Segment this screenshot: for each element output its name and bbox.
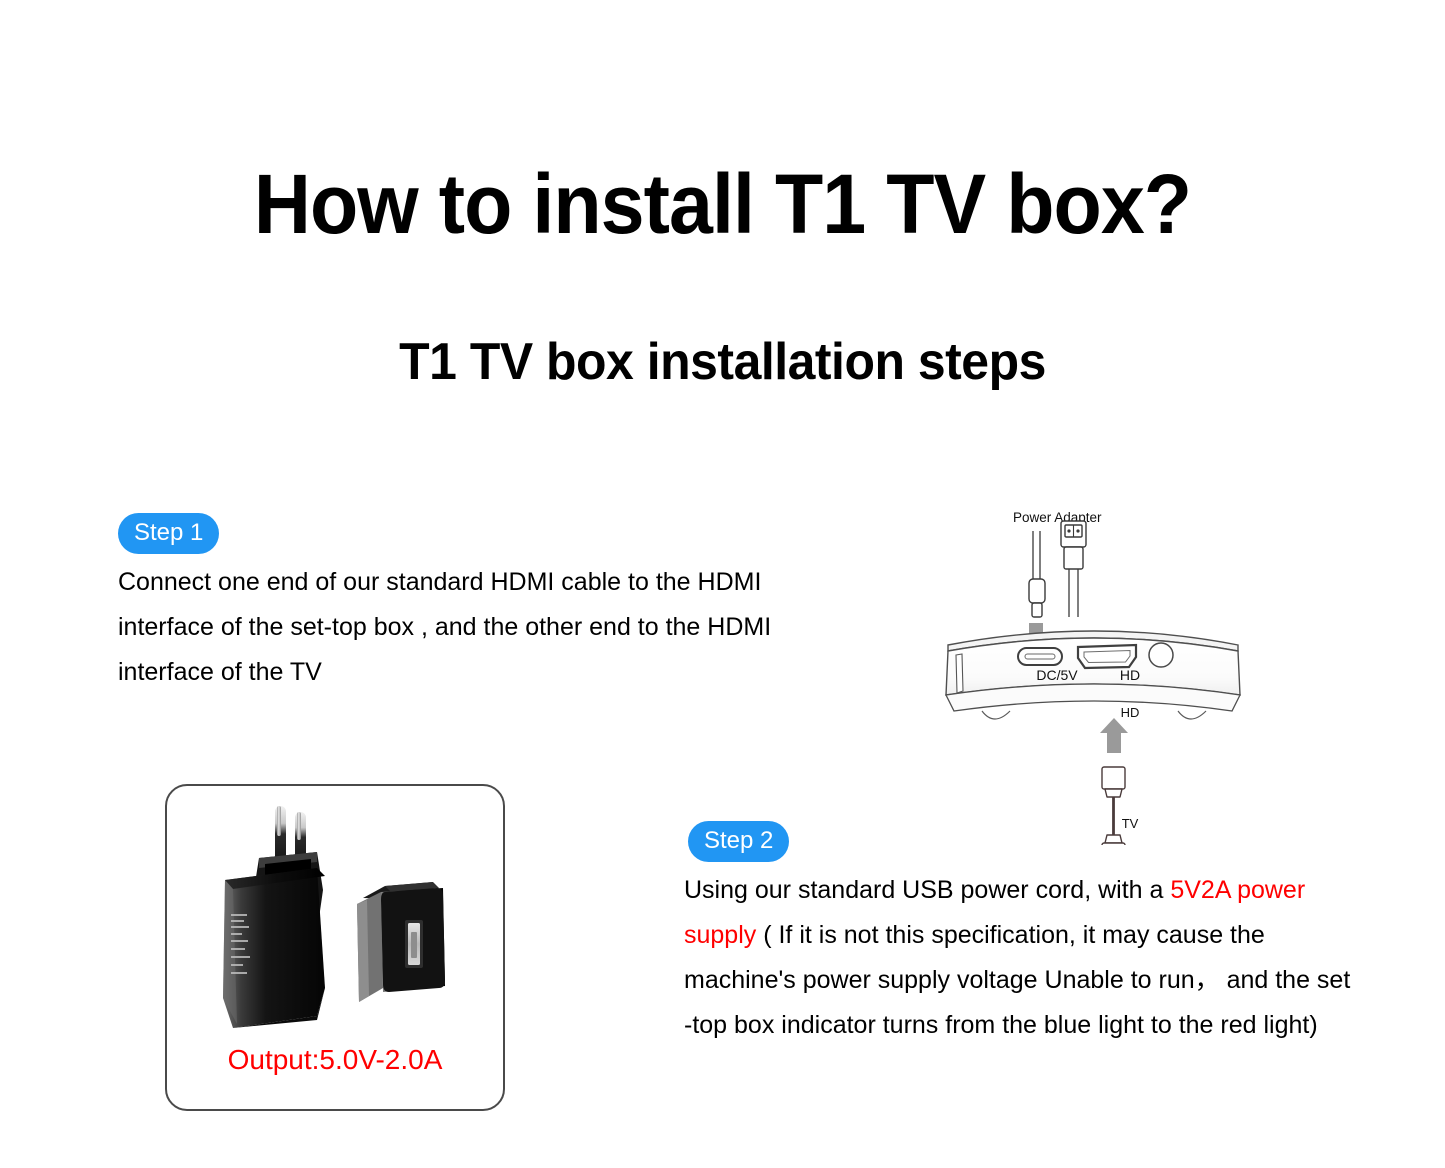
ir-indicator-icon: [1149, 643, 1173, 667]
dc-port-label: DC/5V: [1012, 668, 1102, 682]
hdmi-port-icon: [1078, 645, 1136, 668]
hdmi-cable-icon: [1102, 767, 1125, 845]
step-1-text: Connect one end of our standard HDMI cab…: [118, 560, 858, 695]
tv-label: TV: [1100, 817, 1160, 830]
arrow-up-icon: [1100, 718, 1128, 753]
step-2-badge: Step 2: [688, 821, 789, 862]
usb-c-port-icon: [1018, 648, 1062, 665]
usb-power-cable-icon: [1029, 521, 1086, 617]
step-2-text: Using our standard USB power cord, with …: [684, 868, 1364, 1048]
step-2-text-lead: Using our standard USB power cord, with …: [684, 876, 1170, 904]
step-2-text-tail: ( If it is not this specification, it ma…: [684, 921, 1350, 1039]
adapter-left: [223, 806, 325, 1028]
adapter-output-label: Output:5.0V-2.0A: [0, 1046, 670, 1074]
power-adapter-photo: [167, 792, 507, 1042]
page-subtitle: T1 TV box installation steps: [29, 336, 1416, 388]
hd-port-label: HD: [1100, 668, 1160, 682]
hd-cable-label: HD: [1100, 706, 1160, 719]
adapter-right: [357, 882, 445, 1002]
step-1-badge: Step 1: [118, 513, 219, 554]
page-title: How to install T1 TV box?: [43, 162, 1401, 246]
